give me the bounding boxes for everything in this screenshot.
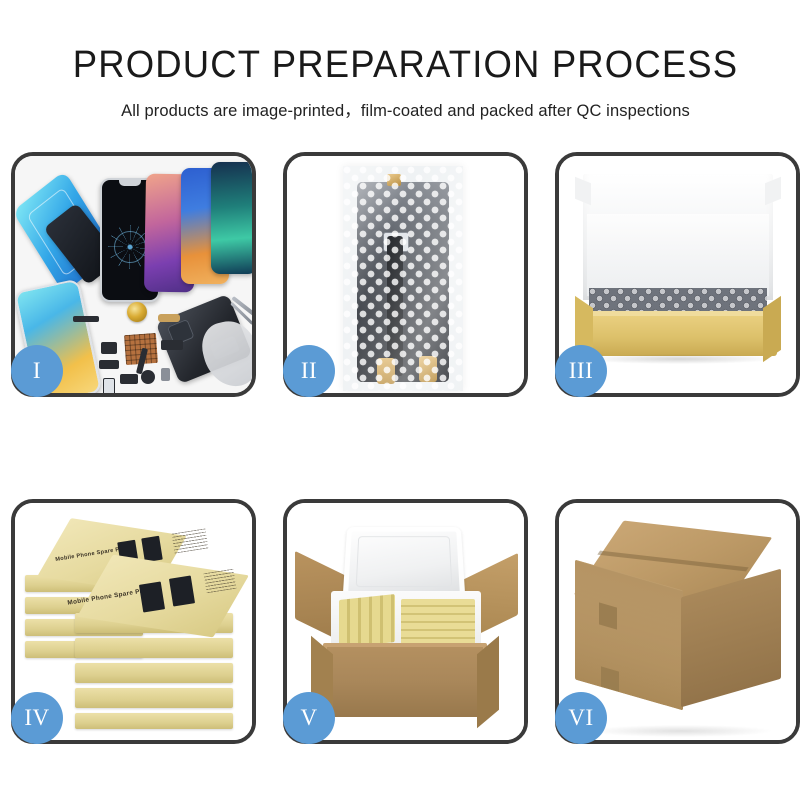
spare-part xyxy=(73,316,99,322)
spare-part xyxy=(103,378,115,393)
spare-part xyxy=(141,370,155,384)
page-title: PRODUCT PREPARATION PROCESS xyxy=(16,0,795,86)
box-inner-foam xyxy=(587,214,769,296)
gold-boxes-group-left xyxy=(339,594,395,648)
box-spec-lines xyxy=(172,528,209,553)
sealed-carton xyxy=(573,529,783,709)
spare-part xyxy=(101,342,117,354)
step-badge-3: III xyxy=(555,345,607,397)
spare-part xyxy=(120,374,138,384)
box-artwork-thumbnail xyxy=(139,581,165,612)
gold-box-side xyxy=(75,638,233,658)
box-artwork-thumbnail xyxy=(169,575,195,606)
box-artwork-thumbnail xyxy=(141,536,163,563)
gold-coil-part xyxy=(127,302,147,322)
gold-box-side xyxy=(75,688,233,708)
spare-part xyxy=(161,368,170,381)
foam-lid xyxy=(343,527,466,598)
step-badge-2: II xyxy=(283,345,335,397)
drop-shadow xyxy=(591,725,771,737)
process-step-grid: I II III xyxy=(11,152,800,752)
gold-boxes-group-right xyxy=(401,599,475,645)
step-badge-6: VI xyxy=(555,692,607,744)
step-badge-4: IV xyxy=(11,692,63,744)
spare-part xyxy=(99,360,119,369)
step-badge-5: V xyxy=(283,692,335,744)
drop-shadow xyxy=(585,354,773,364)
plastic-sheen xyxy=(343,166,463,391)
page-header: PRODUCT PREPARATION PROCESS All products… xyxy=(0,0,811,121)
spare-part xyxy=(161,340,183,350)
gold-box-front xyxy=(579,316,777,356)
process-step-panel-1: I xyxy=(11,152,256,397)
page-subtitle: All products are image-printed，film-coat… xyxy=(0,86,811,121)
process-step-panel-5: V xyxy=(283,499,528,744)
spare-part xyxy=(158,314,180,322)
phone-teal-gradient xyxy=(211,162,252,274)
gold-box-stack: Mobile Phone Spare Parts Mobile Phone Sp… xyxy=(23,521,245,729)
bubble-wrap-package xyxy=(343,166,463,391)
process-step-panel-2: II xyxy=(283,152,528,397)
step-badge-1: I xyxy=(11,345,63,397)
process-step-panel-3: III xyxy=(555,152,800,397)
process-step-panel-4: Mobile Phone Spare Parts Mobile Phone Sp… xyxy=(11,499,256,744)
notch-icon xyxy=(119,180,141,186)
carton-body xyxy=(327,647,483,717)
gold-box-side xyxy=(75,713,233,729)
process-step-panel-6: VI xyxy=(555,499,800,744)
gold-box-side xyxy=(75,663,233,683)
cracked-glass-ring xyxy=(114,231,146,263)
